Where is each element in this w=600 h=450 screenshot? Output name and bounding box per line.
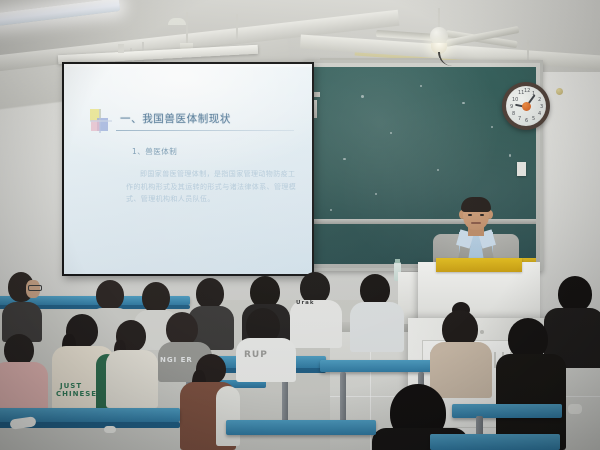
mouth <box>471 222 481 224</box>
wall-hook <box>556 88 563 95</box>
wall-clock: 12 1 2 3 4 5 6 7 8 9 10 11 <box>502 82 550 130</box>
jacket-text: RUP <box>244 350 268 360</box>
student-desk <box>320 360 440 372</box>
jacket-text: JUST <box>60 382 82 390</box>
slide-subtitle: 1、兽医体制 <box>132 146 177 157</box>
pendant-rod <box>236 14 238 40</box>
ceiling-mount-plate <box>168 18 186 25</box>
torso <box>290 300 342 348</box>
head <box>558 276 592 312</box>
audience-area: Urak JUST CHINESE <box>0 258 600 450</box>
slide-title-underline <box>116 130 294 131</box>
torso <box>106 350 158 408</box>
head <box>142 282 170 313</box>
student-desk <box>226 420 376 435</box>
head <box>166 312 198 346</box>
head <box>96 280 124 310</box>
clock-center-cap <box>522 102 531 111</box>
jacket-text: Urak <box>296 300 315 306</box>
jacket-text: NGI ER <box>160 356 193 364</box>
pendant-rod <box>186 12 188 44</box>
blackboard-rail <box>312 219 536 224</box>
torso <box>236 338 296 382</box>
wall-conduit <box>320 58 440 60</box>
classroom-photo: 一、我国兽医体制现状 1、兽医体制 即国家兽医管理体制，是指国家管理动物防疫工作… <box>0 0 600 450</box>
torso <box>430 342 492 398</box>
head <box>196 278 224 309</box>
torso <box>350 302 404 352</box>
slide-surface: 一、我国兽医体制现状 1、兽医体制 即国家兽医管理体制，是指国家管理动物防疫工作… <box>64 64 312 274</box>
powerpoint-decorative-squares-icon <box>90 109 112 133</box>
blackboard-eraser <box>517 162 526 176</box>
student-desk <box>430 434 560 450</box>
slide-title: 一、我国兽医体制现状 <box>120 111 231 126</box>
desk-leg <box>340 372 346 422</box>
paper-scrap <box>104 426 116 433</box>
eyeglasses <box>28 285 42 291</box>
student-desk <box>452 404 562 418</box>
slide-body-text: 即国家兽医管理体制，是指国家管理动物防疫工作的机构形式及其运转的形式与诸法律体系… <box>126 168 302 206</box>
paper-scrap <box>568 404 582 414</box>
projection-screen: 一、我国兽医体制现状 1、兽医体制 即国家兽医管理体制，是指国家管理动物防疫工作… <box>62 62 314 276</box>
hair <box>461 197 491 212</box>
screen-bracket <box>118 44 124 53</box>
jacket-text: CHINESE <box>56 390 97 398</box>
inner-top <box>216 386 240 446</box>
clock-face: 12 1 2 3 4 5 6 7 8 9 10 11 <box>506 86 546 126</box>
